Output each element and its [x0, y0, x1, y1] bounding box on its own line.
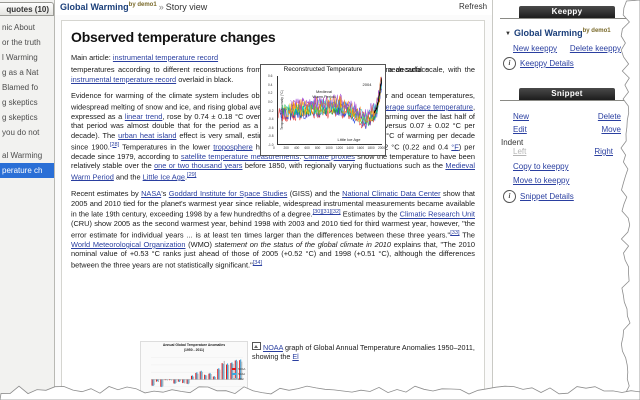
inline-link[interactable]: urban heat island: [118, 131, 176, 140]
reference-marker[interactable]: [34]: [253, 260, 262, 266]
legend-label: CRU: [238, 378, 242, 380]
bar-NASA-1956: [161, 379, 162, 387]
sidebar-list-item[interactable]: perature ch: [0, 163, 54, 178]
italic-text: statement on the status of the global cl…: [215, 240, 391, 249]
text-run: and the: [114, 172, 143, 181]
left-sidebar: quotes (10) nic Aboutor the truthl Warmi…: [0, 0, 55, 400]
bar-NOAA-1953: [156, 379, 157, 381]
snippet-edit-link[interactable]: Edit: [513, 125, 527, 134]
chart-subtitle-text: (1950 - 2011): [184, 348, 204, 352]
text-run: temperatures according to different reco…: [71, 65, 265, 74]
bar-CRU-1980: [197, 374, 198, 380]
keeppy-title-row[interactable]: ▼Global Warmingby demo1: [505, 28, 633, 38]
chart-title: Reconstructed Temperature: [261, 66, 385, 73]
bar-NOAA-1992: [213, 377, 214, 380]
main-article-line: Main article: instrumental temperature r…: [71, 53, 475, 62]
annotation-medieval-warm-period: MedievalWarm Period: [301, 89, 347, 99]
refresh-link[interactable]: Refresh: [459, 2, 487, 11]
reference-marker[interactable]: [33]: [450, 230, 459, 236]
main-article-link[interactable]: instrumental temperature record: [113, 53, 218, 62]
sidebar-list-item[interactable]: or the truth: [0, 35, 54, 50]
inline-link[interactable]: °F: [451, 142, 458, 151]
x-tick-label: 2000: [378, 146, 385, 150]
bar-NOAA-1989: [208, 374, 209, 380]
bar-NOAA-1974: [187, 379, 188, 383]
keeppy-actions: New keeppy Delete keeppy: [501, 44, 633, 53]
snippet-new-link[interactable]: New: [513, 112, 529, 121]
bar-NASA-1980: [196, 372, 197, 379]
sidebar-list-item[interactable]: g skeptics: [0, 95, 54, 110]
keeppy-author: by demo1: [583, 28, 611, 34]
bar-NOAA-1998: [222, 363, 223, 379]
y-tick-label: -0.2: [268, 109, 274, 113]
bar-NASA-2001: [227, 363, 228, 379]
bar-CRU-1953: [158, 379, 159, 382]
annotation-2004: 2004: [357, 82, 377, 87]
breadcrumb-title[interactable]: Global Warming: [60, 2, 129, 12]
bar-CRU-1998: [224, 361, 225, 380]
chart-title: Annual Global Temperature Anomalies (195…: [141, 343, 247, 352]
app-window: quotes (10) nic Aboutor the truthl Warmi…: [0, 0, 640, 400]
bar-NASA-1965: [174, 379, 175, 383]
bar-NASA-1974: [188, 379, 189, 384]
sidebar-list-item[interactable]: you do not: [0, 125, 54, 140]
breadcrumb-separator: »: [159, 2, 164, 12]
bar-NASA-1986: [205, 375, 206, 379]
x-tick-label: 600: [305, 146, 310, 150]
y-tick-label: 0.4: [268, 83, 272, 87]
bar-NASA-1950: [153, 379, 154, 386]
keeppy-title[interactable]: Global Warming: [514, 28, 583, 38]
inline-link[interactable]: linear trend: [125, 112, 163, 121]
noaa-figure-caption: NOAA graph of Global Annual Temperature …: [252, 342, 490, 361]
bar-CRU-1989: [211, 374, 212, 379]
snippet-details-row[interactable]: i Snippet Details: [503, 190, 633, 203]
x-tick-label: 200: [284, 146, 289, 150]
snippet-delete-link[interactable]: Delete: [598, 112, 621, 121]
text-run: Recent estimates by: [71, 189, 141, 198]
legend-swatch: [232, 373, 236, 375]
keeppy-details-link[interactable]: Keeppy Details: [520, 59, 574, 68]
text-run: overlaid in black.: [176, 75, 233, 84]
bar-CRU-1971: [184, 379, 185, 383]
x-tick-label: 1000: [326, 146, 333, 150]
y-tick-label: -0.8: [268, 134, 274, 138]
inline-link[interactable]: Goddard Institute for Space Studies: [169, 189, 288, 198]
bar-CRU-1995: [219, 370, 220, 380]
bar-NOAA-1968: [178, 379, 179, 381]
copy-to-keeppy-link[interactable]: Copy to keeppy: [513, 162, 569, 171]
sidebar-list-item[interactable]: g skeptics: [0, 110, 54, 125]
bar-CRU-1974: [189, 379, 190, 383]
bar-NASA-1989: [210, 373, 211, 380]
chart-annual-global-temperature-anomalies[interactable]: Annual Global Temperature Anomalies (195…: [140, 341, 248, 400]
inline-link[interactable]: Little Ice Age: [143, 172, 185, 181]
sidebar-list-item[interactable]: Blamed fo: [0, 80, 54, 95]
breadcrumb: Global Warmingby demo1»Story view: [60, 2, 207, 12]
inline-link[interactable]: troposphere: [213, 142, 252, 151]
panel-header-snippet: Snippet: [519, 88, 615, 100]
bar-NOAA-1986: [204, 375, 205, 380]
inline-link[interactable]: National Climatic Data Center: [342, 189, 440, 198]
inline-link[interactable]: Climatic Research Unit: [400, 210, 475, 219]
snippet-actions-row1: New Delete: [501, 112, 633, 121]
bar-NASA-1995: [218, 368, 219, 379]
panel-body-keeppy: ▼Global Warmingby demo1 New keeppy Delet…: [493, 19, 640, 76]
indent-left-link: Left: [513, 147, 526, 156]
indent-label: Indent: [501, 138, 633, 147]
delete-keeppy-link[interactable]: Delete keeppy: [570, 44, 621, 53]
y-tick-label: -1.0: [268, 143, 274, 147]
bar-CRU-1962: [171, 379, 172, 380]
bar-NOAA-1971: [182, 379, 183, 383]
bar-NOAA-1995: [217, 369, 218, 380]
text-run: Estimates by the: [341, 210, 400, 219]
new-keeppy-link[interactable]: New keeppy: [513, 44, 557, 53]
legend-item-CRU: CRU: [232, 378, 244, 383]
panel-body-snippet: New Delete Edit Move Indent Left Right C…: [493, 101, 640, 209]
text-run: before 1850, with regionally varying flu…: [242, 161, 445, 170]
sidebar-list-item[interactable]: al Warming: [0, 148, 54, 163]
chart-reconstructed-temperature[interactable]: Reconstructed Temperature Temperature An…: [260, 64, 386, 156]
bar-NASA-1971: [183, 379, 184, 382]
y-tick-label: 0.2: [268, 91, 272, 95]
x-tick-label: 400: [294, 146, 299, 150]
chart-bars-svg: [151, 354, 243, 394]
bar-NASA-1983: [201, 371, 202, 380]
legend-swatch: [232, 378, 236, 380]
bar-NASA-1977: [192, 375, 193, 379]
snippet-move-link[interactable]: Move: [601, 125, 621, 134]
panel-header-keeppy: Keeppy: [519, 6, 615, 18]
inline-link[interactable]: NASA: [141, 189, 161, 198]
x-tick-label: 800: [315, 146, 320, 150]
bar-CRU-1983: [202, 372, 203, 380]
y-tick-label: 0.0: [268, 100, 272, 104]
bar-CRU-1959: [167, 379, 168, 380]
text-run: 's: [161, 189, 169, 198]
text-run: (WMO): [185, 240, 214, 249]
chart-legend: NOAANASACRU: [232, 368, 244, 383]
tab-quotes[interactable]: quotes (10): [0, 2, 54, 16]
bar-NASA-1953: [157, 379, 158, 381]
x-tick-label: 1800: [368, 146, 375, 150]
indent-right-link[interactable]: Right: [594, 147, 613, 156]
bar-NOAA-1956: [160, 379, 161, 386]
bar-NASA-1968: [179, 379, 180, 382]
bar-CRU-1965: [176, 379, 177, 383]
bar-CRU-1986: [206, 375, 207, 379]
left-sidebar-list: nic Aboutor the truthl Warmingg as a Nat…: [0, 20, 54, 178]
y-tick-label: 0.6: [268, 74, 272, 78]
sidebar-list-item[interactable]: l Warming: [0, 50, 54, 65]
x-tick-label: 1400: [347, 146, 354, 150]
breadcrumb-view[interactable]: Story view: [166, 2, 208, 12]
bar-CRU-1992: [215, 377, 216, 380]
inline-link[interactable]: instrumental temperature record: [71, 75, 176, 84]
right-panel: Keeppy ▼Global Warmingby demo1 New keepp…: [492, 0, 640, 400]
snippet-actions-row2: Edit Move: [501, 125, 633, 134]
bar-CRU-2001: [228, 365, 229, 380]
x-tick-label: 1600: [357, 146, 364, 150]
tabstrip-divider: [0, 15, 54, 16]
bar-NOAA-2001: [226, 365, 227, 380]
inline-link[interactable]: World Meteorological Organization: [71, 240, 185, 249]
legend-label: NOAA: [238, 368, 242, 370]
noaa-link[interactable]: NOAA: [263, 343, 283, 352]
list-gap: [0, 140, 54, 148]
main-content-area: Observed temperature changes Main articl…: [55, 15, 492, 400]
bar-NASA-1992: [214, 376, 215, 379]
main-article-label: Main article:: [71, 53, 111, 62]
chart-title-text: Annual Global Temperature Anomalies: [163, 343, 225, 347]
bar-NOAA-1950: [152, 379, 153, 385]
image-icon: [252, 342, 261, 350]
snippet-details-link[interactable]: Snippet Details: [520, 192, 574, 201]
annotation-little-ice-age: Little Ice Age: [329, 137, 369, 142]
reference-marker[interactable]: [29]: [187, 172, 196, 178]
bar-NOAA-1983: [200, 371, 201, 379]
bar-CRU-1968: [180, 379, 181, 381]
text-run: The: [460, 230, 475, 239]
bar-CRU-1977: [193, 377, 194, 380]
reference-marker[interactable]: [28]: [110, 142, 119, 148]
info-icon: i: [503, 57, 516, 70]
inline-link[interactable]: one or two thousand years: [154, 161, 242, 170]
chevron-down-icon[interactable]: ▼: [505, 31, 511, 37]
keeppy-details-row[interactable]: i Keeppy Details: [503, 57, 633, 70]
bar-CRU-1956: [162, 379, 163, 386]
paragraph: Recent estimates by NASA's Goddard Insti…: [71, 189, 475, 270]
bar-NOAA-1980: [195, 373, 196, 380]
bar-NOAA-1965: [173, 379, 174, 383]
breadcrumb-author: by demo1: [129, 2, 157, 8]
legend-label: NASA: [238, 373, 242, 375]
text-run: Temperatures in the lower: [119, 142, 213, 151]
text-run: (GISS) and the: [287, 189, 342, 198]
noaa-caption-tail-link[interactable]: El: [292, 352, 298, 361]
y-tick-label: -0.4: [268, 117, 274, 121]
move-to-keeppy-link[interactable]: Move to keeppy: [513, 176, 569, 185]
reference-marker[interactable]: [30][31][32]: [313, 209, 341, 215]
page-title: Observed temperature changes: [71, 29, 475, 45]
bar-NASA-1998: [223, 364, 224, 380]
indent-actions: Left Right: [501, 147, 633, 156]
y-tick-label: -0.6: [268, 126, 274, 130]
info-icon: i: [503, 190, 516, 203]
sidebar-list-item[interactable]: nic About: [0, 20, 54, 35]
x-tick-label: 1200: [336, 146, 343, 150]
sidebar-list-item[interactable]: g as a Nat: [0, 65, 54, 80]
bar-CRU-1950: [154, 379, 155, 385]
noaa-caption-text: graph of Global Annual Temperature Anoma…: [252, 343, 475, 361]
bar-NOAA-1977: [191, 376, 192, 380]
text-run: (CRU) show 2005 as the second warmest ye…: [71, 219, 475, 239]
chart-plot-area: [151, 354, 243, 394]
legend-swatch: [232, 368, 236, 370]
